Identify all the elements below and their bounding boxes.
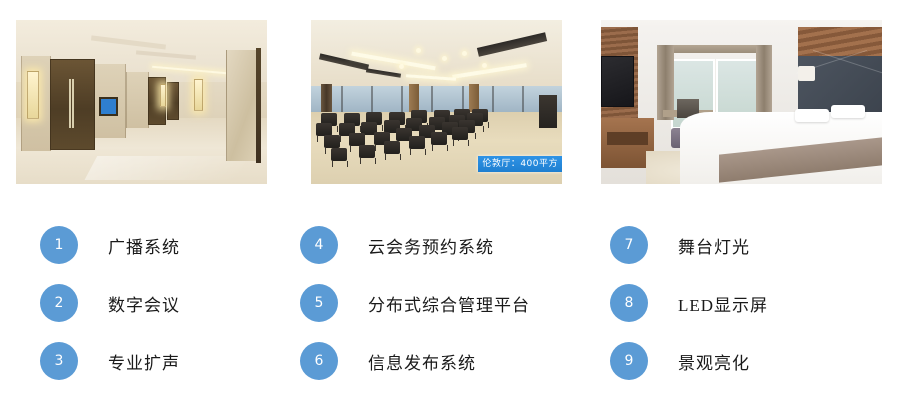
hall-window-mullion-2 xyxy=(371,86,373,114)
system-number-badge-9: 9 xyxy=(610,342,648,380)
room-scene xyxy=(601,20,882,184)
hall-chair xyxy=(324,135,340,148)
system-label-5: 分布式综合管理平台 xyxy=(368,291,530,316)
room-pillow-1 xyxy=(831,105,865,118)
system-number-badge-3: 3 xyxy=(40,342,78,380)
room-pillow-2 xyxy=(795,109,829,122)
hall-window-mullion-3 xyxy=(401,86,403,114)
lobby-column xyxy=(226,50,260,162)
hall-scene: 伦敦厅：400平方 xyxy=(311,20,562,184)
hall-downlight-2 xyxy=(442,56,447,61)
system-number-badge-1: 1 xyxy=(40,226,78,264)
lobby-door-handle-1 xyxy=(69,79,71,128)
systems-column-1: 1 广播系统 2 数字会议 3 专业扩声 xyxy=(40,200,330,414)
hall-chair xyxy=(431,132,447,145)
room-curtain-right xyxy=(756,45,773,120)
system-label-2: 数字会议 xyxy=(108,291,180,316)
system-label-3: 专业扩声 xyxy=(108,349,180,374)
hall-room-label: 伦敦厅：400平方 xyxy=(478,156,562,172)
room-television xyxy=(601,56,634,107)
hall-chair xyxy=(331,148,347,161)
hall-chair xyxy=(409,136,425,149)
system-item-2[interactable]: 2 数字会议 xyxy=(40,284,180,322)
hall-window-mullion-7 xyxy=(522,86,524,114)
page-root: { "gallery": { "photos": [ { "name": "el… xyxy=(0,0,900,414)
system-number-badge-2: 2 xyxy=(40,284,78,322)
hall-loudspeaker xyxy=(539,95,557,128)
system-item-1[interactable]: 1 广播系统 xyxy=(40,226,180,264)
guest-room-photo-inner xyxy=(601,20,882,184)
elevator-lobby-photo xyxy=(16,20,267,184)
lobby-elevator-door-3 xyxy=(167,82,179,120)
hall-window-mullion-1 xyxy=(341,86,343,114)
system-item-8[interactable]: 8 LED显示屏 xyxy=(610,284,768,322)
system-number-badge-6: 6 xyxy=(300,342,338,380)
room-floor-lamp xyxy=(798,66,815,81)
hall-chair xyxy=(359,145,375,158)
lobby-wall-sconce-1 xyxy=(27,71,39,119)
system-label-6: 信息发布系统 xyxy=(368,349,476,374)
system-item-4[interactable]: 4 云会务预约系统 xyxy=(300,226,494,264)
system-number-badge-8: 8 xyxy=(610,284,648,322)
lobby-info-screen xyxy=(99,97,118,116)
system-item-7[interactable]: 7 舞台灯光 xyxy=(610,226,750,264)
systems-column-2: 4 云会务预约系统 5 分布式综合管理平台 6 信息发布系统 xyxy=(300,200,590,414)
system-number-badge-7: 7 xyxy=(610,226,648,264)
hall-chair xyxy=(452,127,468,140)
hall-downlight-5 xyxy=(482,63,487,68)
system-label-8: LED显示屏 xyxy=(678,291,768,316)
conference-hall-photo-inner: 伦敦厅：400平方 xyxy=(311,20,562,184)
lobby-column-trim xyxy=(256,48,261,163)
system-label-4: 云会务预约系统 xyxy=(368,233,494,258)
elevator-lobby-photo-inner xyxy=(16,20,267,184)
lobby-wall-sconce-2 xyxy=(160,84,166,107)
system-number-badge-5: 5 xyxy=(300,284,338,322)
hall-chair xyxy=(384,141,400,154)
lobby-wall-panel-3 xyxy=(126,72,148,128)
hall-downlight-3 xyxy=(462,51,467,56)
conference-hall-photo: 伦敦厅：400平方 xyxy=(311,20,562,184)
hall-window-mullion-6 xyxy=(492,86,494,114)
photo-gallery: 伦敦厅：400平方 xyxy=(0,0,900,200)
lobby-wall-sconce-3 xyxy=(194,79,203,111)
system-label-7: 舞台灯光 xyxy=(678,233,750,258)
guest-room-photo xyxy=(601,20,882,184)
system-item-3[interactable]: 3 专业扩声 xyxy=(40,342,180,380)
system-item-5[interactable]: 5 分布式综合管理平台 xyxy=(300,284,530,322)
system-item-6[interactable]: 6 信息发布系统 xyxy=(300,342,476,380)
room-curtain-left xyxy=(657,45,674,120)
room-wood-panel-right xyxy=(798,27,882,60)
system-item-9[interactable]: 9 景观亮化 xyxy=(610,342,750,380)
system-label-9: 景观亮化 xyxy=(678,349,750,374)
hall-window-mullion-4 xyxy=(431,86,433,114)
systems-column-3: 7 舞台灯光 8 LED显示屏 9 景观亮化 xyxy=(610,200,900,414)
system-number-badge-4: 4 xyxy=(300,226,338,264)
system-label-1: 广播系统 xyxy=(108,233,180,258)
systems-list: 1 广播系统 2 数字会议 3 专业扩声 4 云会务预约系统 5 分布式综合管理… xyxy=(0,200,900,414)
lobby-scene xyxy=(16,20,267,184)
lobby-door-handle-2 xyxy=(72,79,74,128)
